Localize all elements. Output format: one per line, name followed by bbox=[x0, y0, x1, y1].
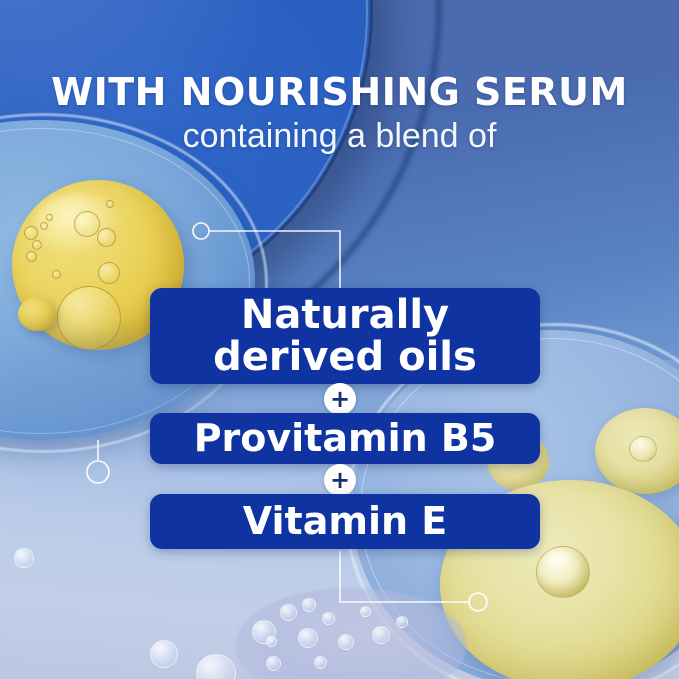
ingredient-chip-oils: Naturallyderived oils bbox=[150, 288, 540, 384]
plus-badge-2: + bbox=[324, 464, 356, 496]
connector-line-vitamin-e bbox=[340, 551, 470, 602]
plus-symbol: + bbox=[330, 387, 350, 411]
ingredient-chip-provitamin-b5: Provitamin B5 bbox=[150, 413, 540, 464]
ingredient-chip-oils-label: Naturallyderived oils bbox=[213, 294, 477, 378]
page-title: WITH NOURISHING SERUM bbox=[0, 70, 679, 114]
connector-dot-provitamin bbox=[87, 461, 109, 483]
plus-symbol: + bbox=[330, 468, 350, 492]
connector-dot-vitamin-e bbox=[469, 593, 487, 611]
ingredient-chip-vitamin-e: Vitamin E bbox=[150, 494, 540, 549]
ingredient-chip-provitamin-b5-label: Provitamin B5 bbox=[194, 419, 497, 459]
promo-image: WITH NOURISHING SERUM containing a blend… bbox=[0, 0, 679, 679]
page-subtitle: containing a blend of bbox=[0, 117, 679, 156]
connector-dot-oils bbox=[193, 223, 209, 239]
connector-line-oils bbox=[209, 231, 340, 290]
ingredient-chip-vitamin-e-label: Vitamin E bbox=[243, 502, 447, 542]
plus-badge-1: + bbox=[324, 383, 356, 415]
